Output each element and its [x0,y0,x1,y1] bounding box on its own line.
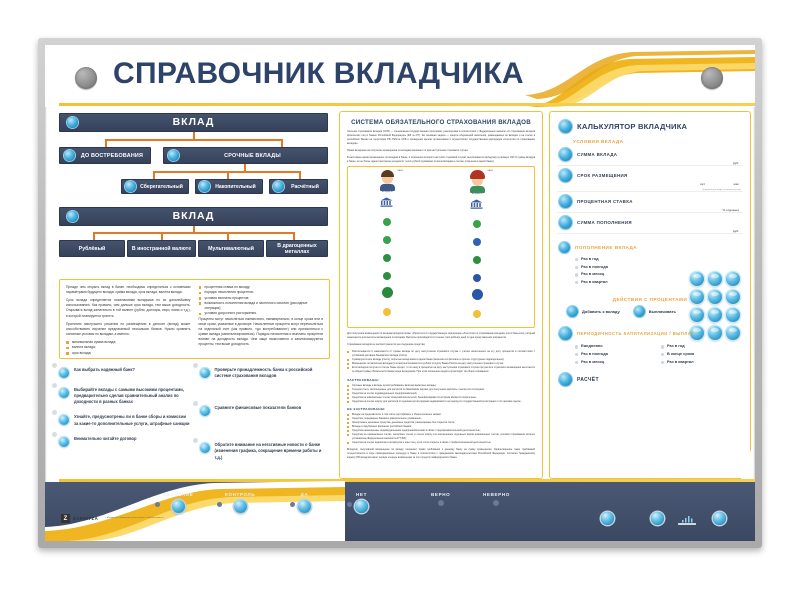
control-indicator-dot [217,502,222,507]
advice-paragraph: Проценты могут начисляться ежемесячно, е… [199,317,324,348]
control-power[interactable] [601,512,614,525]
option-item[interactable]: Раз в полгода [575,263,743,271]
tree1-node-on-demand: ДО ВОСТРЕБОВАНИЯ [59,147,151,164]
tree-connector [281,139,283,147]
topup-knob-icon[interactable] [559,242,570,253]
option-item[interactable]: Раз в месяц [575,358,657,366]
tree2-leaf-foreign: В иностранной валюте [127,240,196,257]
tips-column-right: Проверьте принадлежность банка к российс… [200,367,331,471]
capitalization-options-right: Раз в год В конце срока Раз в квартал [661,342,743,365]
person-b-details: БАНК [488,170,503,173]
tree-connector [93,232,95,240]
tree-connector [93,232,295,234]
field-interest-rate[interactable]: ПРОЦЕНТНАЯ СТАВКА % годовых [559,195,743,208]
list-item: срок вклада; [66,351,191,356]
logo-mark-icon: Z [61,514,70,523]
tree2-leaf-label: Мультивалютный [208,246,254,252]
status-indicator [493,500,499,506]
action-label: Выплачивать [649,309,676,314]
insurance-rules-list: Рассчитывается в зависимости от суммы вк… [347,350,535,374]
ghost-dot-icon [193,363,198,368]
option-item[interactable]: Раз в год [661,342,743,350]
control-bar: Z ZARNITZA г. Москва, ул. Примерная www.… [45,479,755,541]
insured-heading: ЗАСТРАХОВАНЫ: [347,378,535,382]
action-add-to-deposit[interactable]: Добавить к вкладу [567,306,620,317]
volume-down-button[interactable] [651,512,664,525]
tip-label: Сравните финансовые показатели банков [215,405,302,416]
field-knob-icon[interactable] [559,195,572,208]
list-item: Средства на номинальных счетах, залоговы… [347,433,535,441]
tip-label: Обратите внимание на негативные новости … [215,442,331,460]
coin-icon [383,254,391,262]
coin-icon [383,218,391,226]
information-board-frame: СПРАВОЧНИК ВКЛАДЧИКА ВКЛАД ДО ВОСТРЕБОВА… [38,38,762,548]
bank-label: БАНК [398,170,403,172]
person-caption: Вкладчик А [380,191,395,194]
control-button[interactable] [298,500,311,513]
calculate-button[interactable]: РАСЧЁТ [559,373,743,386]
control-volume-down[interactable] [651,512,664,525]
coin-gold-icon [473,310,481,318]
control-button[interactable] [234,500,247,513]
tree1-leaf-label: Накопительный [212,184,259,190]
field-divider [557,165,743,166]
keypad-button[interactable] [690,272,704,286]
option-item[interactable]: В конце срока [661,350,743,358]
bank-icon [470,199,483,209]
deposit-conditions-heading: УСЛОВИЯ ВКЛАДА [573,139,743,144]
coin-icon [473,256,481,264]
insurance-closing-paragraph: Вкладчик, получивший возмещение по вклад… [347,448,535,460]
tip-item[interactable]: Узнайте, предусмотрены ли в банке сборы … [59,414,190,426]
coin-icon [473,274,481,282]
insurance-section-title: СИСТЕМА ОБЯЗАТЕЛЬНОГО СТРАХОВАНИЯ ВКЛАДО… [347,119,535,126]
coin-icon [473,238,481,246]
ghost-dot-icon [52,410,57,415]
keypad-button[interactable] [708,290,722,304]
tip-item[interactable]: Проверьте принадлежность банка к российс… [200,367,331,379]
tree-connector [227,171,229,179]
capitalization-knob-icon[interactable] [559,327,572,340]
field-topup-amount[interactable]: СУММА ПОПОЛНЕНИЯ руб. [559,216,743,229]
tip-knob-icon[interactable] [59,388,69,398]
torso-icon [470,186,485,193]
tips-column-left: Как выбрать надежный банк? Выбирайте вкл… [59,367,190,471]
control-label: ОБУЧЕНИЕ [163,492,193,497]
tree1-root-box: ВКЛАД [59,113,328,132]
tree1-node-label: ДО ВОСТРЕБОВАНИЯ [78,153,146,159]
box-knob-icon[interactable] [64,150,75,161]
control-indicator-dot [290,502,295,507]
person-a-details: БАНК [398,170,413,173]
control-da[interactable]: ДА [298,492,311,513]
insurance-paragraph: В настоящее время возмещение по вкладам … [347,156,535,164]
list-item: возможность пополнения вклада и частично… [199,301,324,312]
field-deposit-term[interactable]: СРОК РАЗМЕЩЕНИЯ мес лет (кликните для вв… [559,169,743,182]
insurance-infographic: Вкладчик А [347,166,535,328]
capitalization-options-left: Ежедневно Раз в полгода Раз в месяц [575,342,657,365]
control-net[interactable]: НЕТ [355,492,368,513]
field-label: СУММА ПОПОЛНЕНИЯ [577,220,632,225]
field-unit: руб. [733,229,739,233]
tree1-leaf-label: Расчётный [286,184,324,190]
insurance-paragraph: Для получения возмещения по вкладам вкла… [347,332,535,340]
tip-label: Проверьте принадлежность банка к российс… [215,367,331,379]
control-label: НЕТ [355,492,368,497]
box-knob-icon[interactable] [125,181,136,192]
advice-paragraph: Срок вклада определяется пожеланиями вкл… [66,298,191,318]
box-knob-icon[interactable] [273,181,284,192]
keypad-button[interactable] [726,308,740,322]
topup-heading: ПОПОЛНЕНИЕ ВКЛАДА [575,245,637,250]
bank-selection-tips: Как выбрать надежный банк? Выбирайте вкл… [59,367,330,471]
field-unit: мес [733,182,739,186]
field-unit: % годовых [723,208,739,212]
field-knob-icon[interactable] [559,148,572,161]
advice-list-right: процентная ставка по вкладу; порядок нач… [199,285,324,317]
tip-knob-icon[interactable] [59,415,69,425]
calculator-title: КАЛЬКУЛЯТОР ВКЛАДЧИКА [577,122,687,131]
keypad-button[interactable] [726,290,740,304]
person-caption: Вкладчик Б [470,193,485,196]
tree1-leaf-settlement: Расчётный [269,179,328,194]
tree2-leaf-label: В иностранной валюте [132,246,191,252]
person-figure-row: Вкладчик Б [470,170,503,324]
logo-text: ZARNITZA [73,516,98,521]
list-item: Средства на счетах эскроу для расчётов п… [347,400,535,404]
coin-total-icon [472,289,483,300]
header: СПРАВОЧНИК ВКЛАДЧИКА [45,45,755,107]
keypad-button[interactable] [708,308,722,322]
field-divider [557,212,743,213]
tip-knob-icon[interactable] [200,443,210,453]
infographic-person-a: Вкладчик А [355,170,438,324]
box-knob-icon[interactable] [199,181,210,192]
tip-label: Как выбрать надежный банк? [74,367,135,378]
tree2-leaf-multicurrency: Мультивалютный [198,240,264,257]
tip-label: Внимательно читайте договор [74,436,137,447]
field-label: СРОК РАЗМЕЩЕНИЯ [577,173,628,178]
control-label: ДА [298,492,311,497]
insured-list: Срочные вклады и вклады до востребования… [347,384,535,404]
list-item: Рассчитывается в зависимости от суммы вк… [347,350,535,358]
not-insured-heading: НЕ ЗАСТРАХОВАНЫ: [347,407,535,411]
field-divider [557,233,743,234]
bank-label: БАНК [488,170,493,172]
control-obuchenie[interactable]: ОБУЧЕНИЕ [163,492,193,513]
option-item[interactable]: Раз в квартал [661,358,743,366]
ghost-dot-icon [193,401,198,406]
power-button[interactable] [601,512,614,525]
keypad-button[interactable] [690,290,704,304]
tip-label: Выбирайте вклады с самыми высокими проце… [74,387,190,405]
field-unit-secondary: лет [700,182,705,186]
hair-icon [381,170,394,177]
coin-gold-icon [383,308,391,316]
page-title: СПРАВОЧНИК ВКЛАДЧИКА [113,57,524,91]
control-volume-up[interactable] [713,512,726,525]
control-button[interactable] [355,500,368,513]
header-divider [59,103,755,106]
option-item[interactable]: Раз в год [575,255,743,263]
depositor-calculator-panel: КАЛЬКУЛЯТОР ВКЛАДЧИКА УСЛОВИЯ ВКЛАДА СУМ… [549,111,751,479]
tree-connector [161,232,163,240]
indicator-verno: ВЕРНО [431,492,450,506]
advice-column-left: Прежде чем открыть вклад в банке, необхо… [66,285,191,353]
tree2-root-label: ВКЛАД [60,208,327,225]
not-insured-list: Вклады на предъявителя, в том числе серт… [347,413,535,445]
field-deposit-amount[interactable]: СУММА ВКЛАДА руб. [559,148,743,161]
option-item[interactable]: Раз в полгода [575,350,657,358]
rules-heading: Страхование вкладов не распространяется … [347,343,535,347]
field-knob-icon[interactable] [559,169,572,182]
tree2-leaf-metals: В драгоценных металлах [266,240,328,257]
coin-icon [383,272,391,280]
deposit-insurance-panel: СИСТЕМА ОБЯЗАТЕЛЬНОГО СТРАХОВАНИЯ ВКЛАДО… [339,111,543,479]
tree2-root-box: ВКЛАД [59,207,328,226]
control-label: ВЕРНО [431,492,450,497]
tree-connector [105,139,107,147]
option-item[interactable]: Ежедневно [575,342,657,350]
capitalization-section-header: ПЕРИОДИЧНОСТЬ КАПИТАЛИЗАЦИИ / ВЫПЛАТ [559,327,743,340]
infographic-person-b: Вкладчик Б [445,170,528,324]
volume-up-button[interactable] [713,512,726,525]
tip-item[interactable]: Выбирайте вклады с самыми высокими проце… [59,387,190,405]
tree1-leaf-savings: Сберегательный [121,179,189,194]
tip-item[interactable]: Внимательно читайте договор [59,436,190,447]
tip-item[interactable]: Как выбрать надежный банк? [59,367,190,378]
box-knob-icon[interactable] [168,150,179,161]
calculator-header: КАЛЬКУЛЯТОР ВКЛАДЧИКА [559,120,743,133]
ghost-dot-icon [52,432,57,437]
board-surface: СПРАВОЧНИК ВКЛАДЧИКА ВКЛАД ДО ВОСТРЕБОВА… [45,45,755,541]
hair-icon [470,170,485,179]
keypad-button[interactable] [726,272,740,286]
mounting-bolt-right-icon [701,67,723,89]
tip-knob-icon[interactable] [200,406,210,416]
action-knob-icon[interactable] [634,306,645,317]
calculate-label: РАСЧЁТ [577,377,599,383]
deposit-advice-textblock: Прежде чем открыть вклад в банке, необхо… [59,279,330,359]
logo-contact-info: г. Москва, ул. Примерная www.zarnitza.ru… [105,517,163,520]
speaker-icon [676,514,698,527]
tip-knob-icon[interactable] [59,368,69,378]
control-button[interactable] [172,500,185,513]
tree1-leaf-accumulative: Накопительный [195,179,263,194]
tip-knob-icon[interactable] [59,437,69,447]
tree2-leaf-ruble: Рублёвый [59,240,125,257]
capitalization-heading: ПЕРИОДИЧНОСТЬ КАПИТАЛИЗАЦИИ / ВЫПЛАТ [577,331,694,336]
tip-label: Узнайте, предусмотрены ли в банке сборы … [74,414,190,426]
calculator-knob-icon[interactable] [559,120,572,133]
tree1-node-term-deposits: СРОЧНЫЕ ВКЛАДЫ [163,147,328,164]
coin-icon [473,220,481,228]
tree1-leaf-label: Сберегательный [138,184,185,190]
person-figure-row: Вкладчик А [380,170,413,322]
action-label: Добавить к вкладу [582,309,620,314]
control-label: КОНТРОЛЬ [225,492,255,497]
keypad-button[interactable] [708,272,722,286]
list-item: Средства на счетах адвокатов и нотариусо… [347,441,535,445]
capitalization-options: Ежедневно Раз в полгода Раз в месяц Раз … [571,342,743,365]
tree-connector [105,139,283,141]
control-label: НЕВЕРНО [483,492,510,497]
tree1-root-label: ВКЛАД [60,114,327,131]
field-unit: руб. [733,161,739,165]
tree2-leaf-label: Рублёвый [79,246,105,252]
control-kontrol[interactable]: КОНТРОЛЬ [225,492,255,513]
status-indicator [438,500,444,506]
insurance-paragraph: Система страхования вкладов (ССВ) — спец… [347,130,535,146]
topup-section-header: ПОПОЛНЕНИЕ ВКЛАДА [559,242,743,253]
ghost-dot-icon [52,363,57,368]
insurance-paragraph: Право вкладчика на получение возмещения … [347,149,535,153]
tree2-leaf-label: В драгоценных металлах [267,243,327,255]
advice-column-right: процентная ставка по вкладу; порядок нач… [199,285,324,353]
list-item: условия досрочного расторжения. [199,311,324,316]
field-label: СУММА ВКЛАДА [577,152,617,157]
tree-connector [227,232,229,240]
mounting-bolt-left-icon [75,67,97,89]
tip-item[interactable]: Сравните финансовые показатели банков [200,405,331,416]
calculate-knob-icon[interactable] [559,373,572,386]
manufacturer-logo: Z ZARNITZA г. Москва, ул. Примерная www.… [61,514,163,523]
deposit-types-panel: ВКЛАД ДО ВОСТРЕБОВАНИЯ СРОЧНЫЕ ВКЛАДЫ Сб… [57,111,332,479]
field-divider [557,191,743,192]
tip-knob-icon[interactable] [200,368,210,378]
advice-paragraph: Принятию наилучшего решения по размещени… [66,322,191,337]
tip-item[interactable]: Обратите внимание на негативные новости … [200,442,331,460]
action-pay-out[interactable]: Выплачивать [634,306,676,317]
indicator-neverno: НЕВЕРНО [483,492,510,506]
advice-list-left: минимальная сумма вклада; валюта вклада;… [66,340,191,356]
field-label: ПРОЦЕНТНАЯ СТАВКА [577,199,633,204]
coin-icon [383,236,391,244]
control-indicator-dot [347,502,352,507]
tree-connector [153,171,155,179]
tree-connector [299,171,301,179]
coin-total-icon [382,287,393,298]
ghost-dot-icon [52,383,57,388]
bank-icon [380,197,393,207]
tree1-node-label: СРОЧНЫЕ ВКЛАДЫ [182,153,323,159]
advice-paragraph: Прежде чем открыть вклад в банке, необхо… [66,285,191,295]
action-knob-icon[interactable] [567,306,578,317]
tree-connector [293,232,295,240]
control-indicator-dot [155,502,160,507]
ghost-dot-icon [193,438,198,443]
field-knob-icon[interactable] [559,216,572,229]
keypad-button[interactable] [690,308,704,322]
list-item: Если вкладчик получил в том же банке кре… [347,366,535,374]
field-hint: (кликните для ввода, из кабинета у лет) [703,189,741,191]
